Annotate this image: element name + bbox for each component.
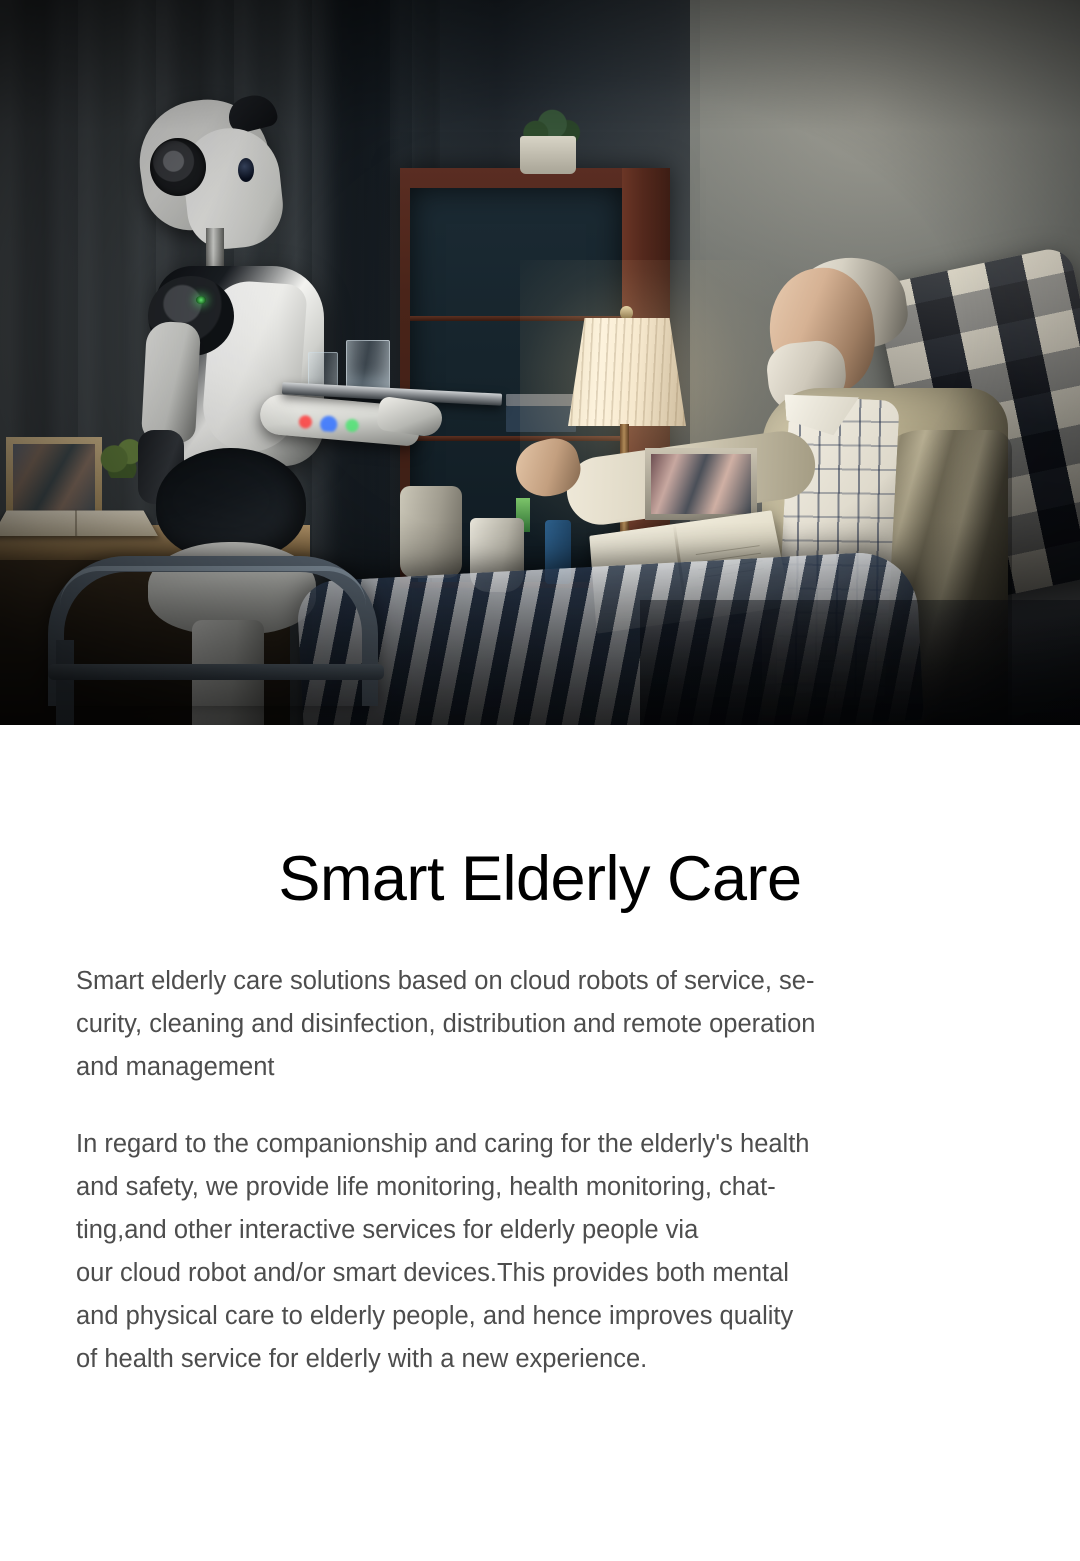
robot-eye: [238, 158, 254, 182]
hero-image: [0, 0, 1080, 725]
photo-frame-desk: [6, 437, 102, 519]
potted-plant-pot: [520, 136, 576, 174]
bed-rail-post: [56, 640, 74, 725]
water-glass: [346, 340, 390, 392]
paragraph-intro-line: Smart elderly care solutions based on cl…: [76, 960, 1004, 1003]
paragraph-detail-line: and safety, we provide life monitoring, …: [76, 1166, 1004, 1209]
paragraph-detail-line: of health service for elderly with a new…: [76, 1338, 1004, 1381]
robot-ear-sensor: [150, 138, 206, 196]
paragraph-detail: In regard to the companionship and carin…: [76, 1123, 1004, 1381]
bedding-shadow: [640, 600, 1080, 725]
paragraph-intro-line: curity, cleaning and disinfection, distr…: [76, 1003, 1004, 1046]
lamp-finial: [620, 306, 633, 320]
lamp-shade-pleats: [568, 318, 686, 426]
photo-frame-desk-image: [13, 444, 95, 512]
book-stack: [506, 406, 576, 432]
photo-frame-nightstand: [645, 448, 757, 520]
page-title: Smart Elderly Care: [0, 845, 1080, 914]
paragraph-detail-line: and physical care to elderly people, and…: [76, 1295, 1004, 1338]
page-root: Smart Elderly Care Smart elderly care so…: [0, 0, 1080, 1561]
paragraph-detail-line: ting,and other interactive services for …: [76, 1209, 1004, 1252]
bed-rail-highlight: [60, 566, 366, 606]
robot-shoulder-led: [196, 296, 206, 304]
robot-upper-arm: [141, 321, 201, 444]
photo-frame-nightstand-image: [651, 454, 751, 514]
paragraph-detail-line: our cloud robot and/or smart devices.Thi…: [76, 1252, 1004, 1295]
body-copy: Smart elderly care solutions based on cl…: [0, 960, 1080, 1381]
paragraph-intro: Smart elderly care solutions based on cl…: [76, 960, 1004, 1089]
shelf-board: [410, 436, 622, 441]
bed-rail-bar: [48, 664, 384, 680]
paragraph-detail-line: In regard to the companionship and carin…: [76, 1123, 1004, 1166]
article-content: Smart Elderly Care Smart elderly care so…: [0, 725, 1080, 1381]
paragraph-intro-line: and management: [76, 1046, 1004, 1089]
